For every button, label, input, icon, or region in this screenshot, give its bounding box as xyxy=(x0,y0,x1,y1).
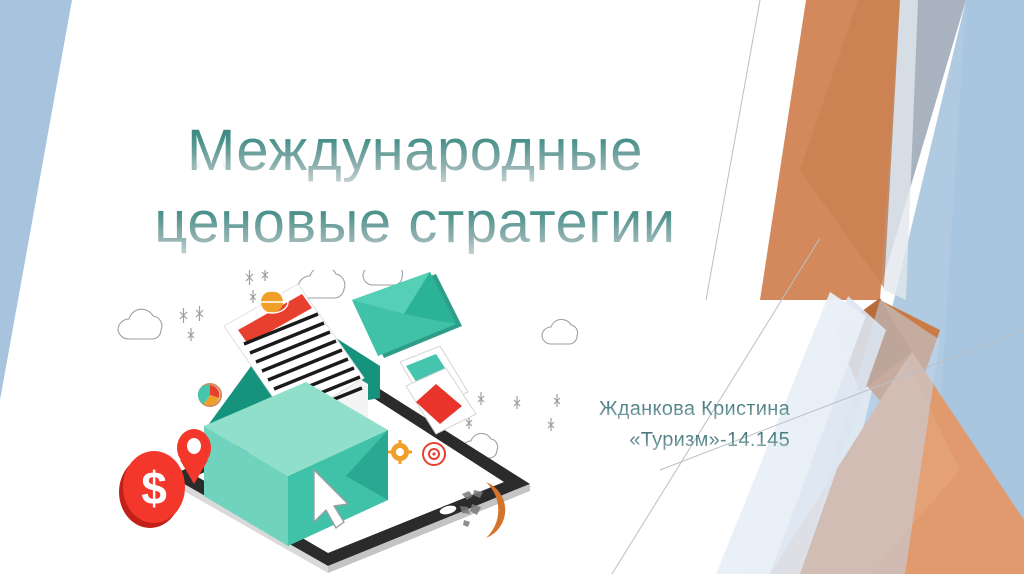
pie-chart-badge xyxy=(198,384,221,406)
sparkle-icon xyxy=(262,270,268,281)
subtitle-line-2-wrap: «Туризм»-14.145 «Туризм»-14.145 xyxy=(440,427,790,458)
title-line-1-wrap: Международные Международные xyxy=(0,118,830,184)
dollar-coin-icon: $ xyxy=(119,451,185,528)
slide-subtitle: Жданкова Кристина Жданкова Кристина «Тур… xyxy=(440,396,790,458)
main-envelope-with-document xyxy=(204,284,388,546)
cloud-icon xyxy=(118,309,162,339)
subtitle-line-2: «Туризм»-14.145 xyxy=(440,427,790,454)
title-line-1: Международные xyxy=(0,118,830,184)
subtitle-line-1: Жданкова Кристина xyxy=(440,396,790,423)
sparkle-icon xyxy=(250,290,256,303)
title-line-2-wrap: ценовые стратегии ценовые стратегии xyxy=(0,190,830,256)
sparkle-icon xyxy=(196,306,203,321)
world-map-motif xyxy=(460,490,483,527)
sparkle-icon xyxy=(180,308,187,323)
presentation-slide: Международные Международные ценовые стра… xyxy=(0,0,1024,574)
subtitle-line-1-wrap: Жданкова Кристина Жданкова Кристина xyxy=(440,396,790,427)
sparkle-icon xyxy=(188,328,194,341)
small-envelope xyxy=(352,272,462,358)
cloud-icon xyxy=(363,270,403,285)
slide-title: Международные Международные ценовые стра… xyxy=(0,118,830,256)
sparkle-icon xyxy=(246,270,253,285)
dollar-symbol: $ xyxy=(141,462,167,514)
cloud-icon xyxy=(542,319,578,344)
title-line-2: ценовые стратегии xyxy=(0,190,830,256)
